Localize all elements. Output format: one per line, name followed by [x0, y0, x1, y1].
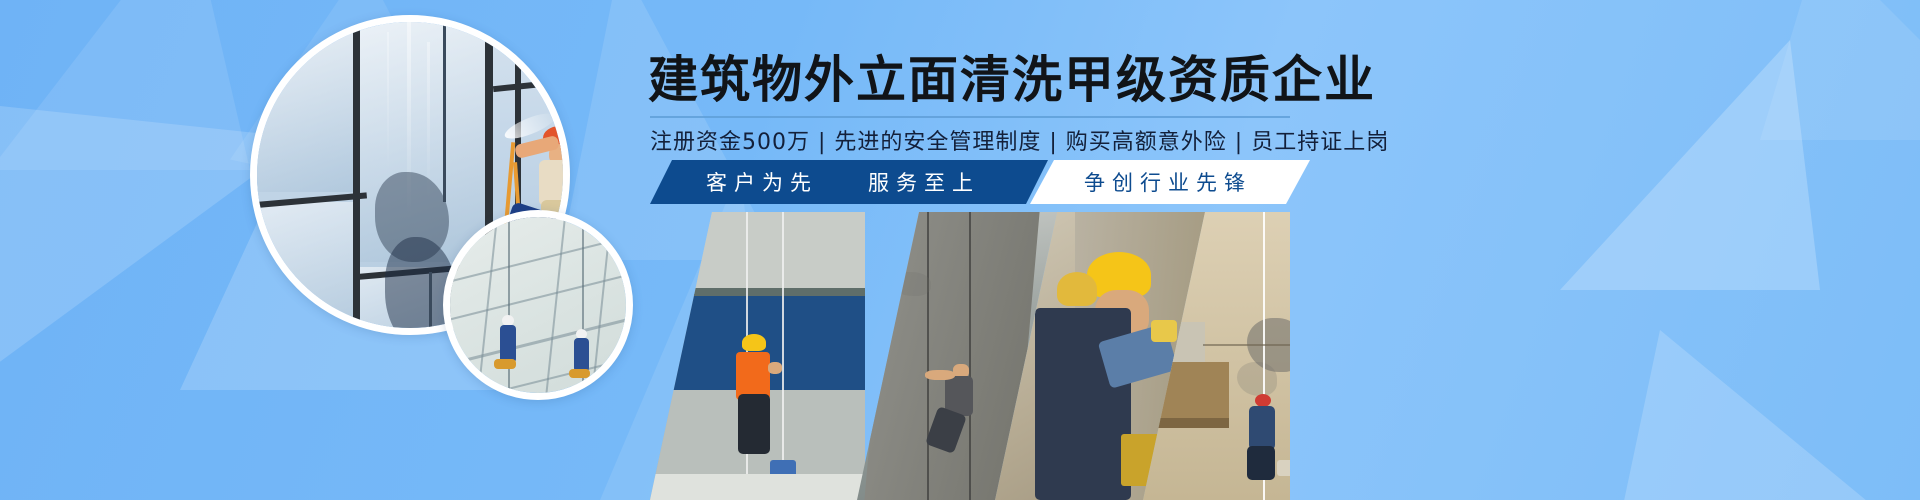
light-facade: [443, 210, 633, 400]
slogan-bar-dark: 客户为先 服务至上: [650, 160, 1048, 204]
banner-headline: 建筑物外立面清洗甲级资质企业: [648, 52, 1376, 108]
headline-underline: [650, 116, 1290, 118]
slogan-2: 服务至上: [868, 167, 980, 197]
slogan-bar-light: 争创行业先锋: [1030, 160, 1310, 204]
slogan-3: 争创行业先锋: [1084, 167, 1252, 197]
facade-workers-illustration: [450, 217, 626, 393]
strip-photo-1: [650, 212, 865, 500]
circle-photo-facade-workers: [443, 210, 633, 400]
promo-banner: 建筑物外立面清洗甲级资质企业 注册资金500万 | 先进的安全管理制度 | 购买…: [0, 0, 1920, 500]
slogan-bar: 客户为先 服务至上 争创行业先锋: [650, 160, 1310, 204]
photo-strip: [650, 212, 1290, 500]
slogan-1: 客户为先: [706, 167, 818, 197]
banner-subline: 注册资金500万 | 先进的安全管理制度 | 购买高额意外险 | 员工持证上岗: [650, 124, 1389, 156]
background-triangle: [1560, 40, 1820, 290]
background-triangle: [1620, 330, 1890, 500]
